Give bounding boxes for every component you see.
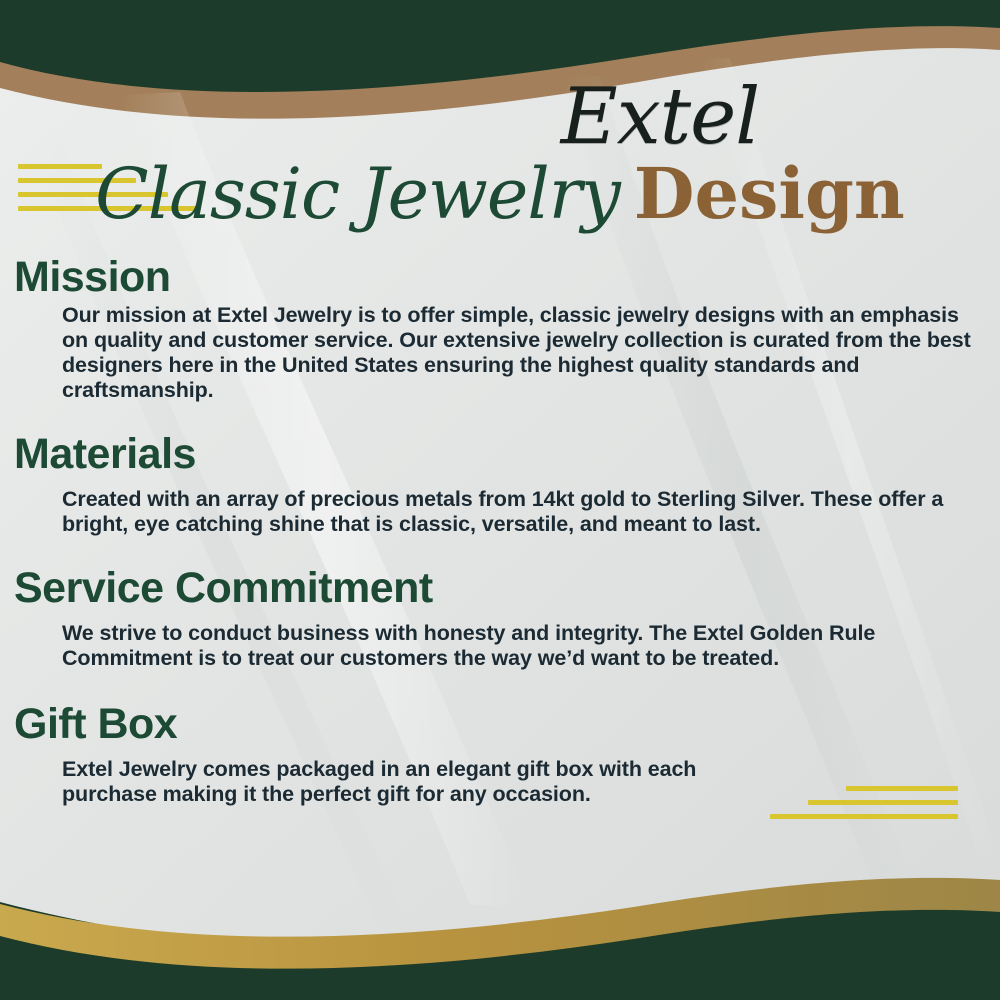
section-mission: Mission Our mission at Extel Jewelry is … xyxy=(0,252,1000,403)
bottom-wave-band xyxy=(0,840,1000,1000)
poster-canvas: Extel Classic JewelryDesign Mission Our … xyxy=(0,0,1000,1000)
section-body: Extel Jewelry comes packaged in an elega… xyxy=(0,757,1000,807)
poster-title: Classic JewelryDesign xyxy=(0,152,1000,235)
section-heading: Materials xyxy=(0,429,1000,480)
section-materials: Materials Created with an array of preci… xyxy=(0,429,1000,537)
section-heading: Service Commitment xyxy=(0,563,1000,614)
section-service-commitment: Service Commitment We strive to conduct … xyxy=(0,563,1000,671)
title-sub: Design xyxy=(634,152,905,235)
section-body: Created with an array of precious metals… xyxy=(0,487,1000,537)
section-body: We strive to conduct business with hones… xyxy=(0,621,1000,671)
section-heading: Gift Box xyxy=(0,699,1000,750)
title-main: Classic Jewelry xyxy=(95,153,620,235)
sections-container: Mission Our mission at Extel Jewelry is … xyxy=(0,252,1000,813)
section-gift-box: Gift Box Extel Jewelry comes packaged in… xyxy=(0,699,1000,807)
section-body: Our mission at Extel Jewelry is to offer… xyxy=(0,303,1000,404)
section-heading: Mission xyxy=(0,252,1000,303)
